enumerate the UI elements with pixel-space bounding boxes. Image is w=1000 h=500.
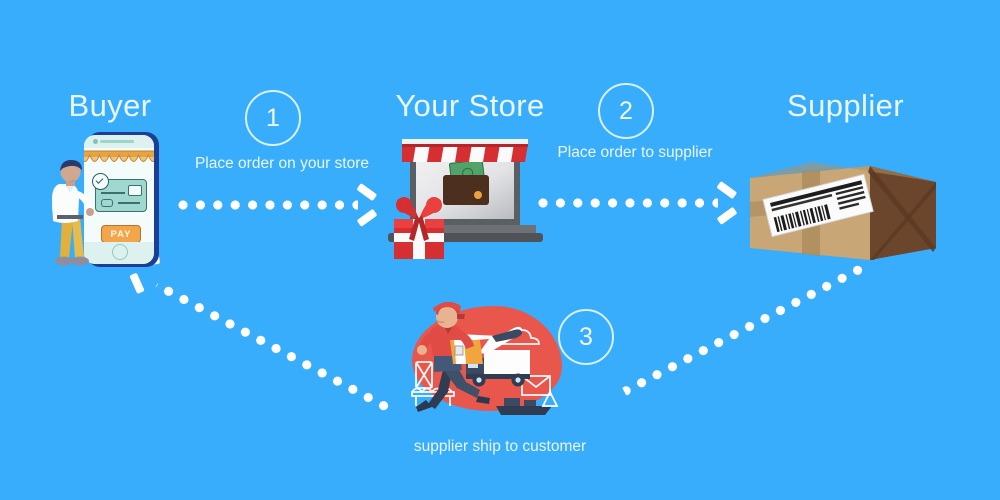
connector-dots-supplier-to-delivery [622, 264, 864, 397]
step-caption-3: supplier ship to customer [380, 438, 620, 456]
connector-dots-buyer-to-store [178, 200, 358, 210]
arrowhead-buyer-to-store [352, 192, 378, 218]
step-number-1: 1 [266, 106, 280, 131]
home-button-icon [112, 244, 128, 260]
store-awning-icon [402, 139, 528, 169]
package-box-icon [750, 148, 936, 260]
delivery-scene-icons [400, 300, 580, 418]
buyer-person-icon [45, 160, 97, 270]
node-title-buyer: Buyer [35, 88, 185, 124]
step-circle-1: 1 [245, 90, 301, 146]
arrowhead-store-to-supplier [712, 190, 738, 216]
step-caption-2: Place order to supplier [535, 144, 735, 162]
buyer-phone-illustration: PAY [45, 132, 165, 272]
step-number-2: 2 [619, 99, 633, 124]
step-circle-2: 2 [598, 83, 654, 139]
connector-dots-delivery-to-buyer [154, 281, 390, 413]
cardboard-box-illustration [750, 148, 940, 266]
connector-dots-store-to-supplier [538, 198, 718, 208]
delivery-courier-illustration [400, 300, 580, 418]
step-caption-1: Place order on your store [175, 155, 389, 173]
pay-button[interactable]: PAY [101, 225, 141, 243]
laptop-store-illustration [388, 133, 548, 271]
node-title-store: Your Store [390, 88, 550, 124]
diagram-canvas: Buyer Your Store Supplier Place order on… [0, 0, 1000, 500]
step-number-3: 3 [579, 325, 593, 350]
node-title-supplier: Supplier [768, 88, 923, 124]
gift-box-icon [388, 193, 450, 263]
